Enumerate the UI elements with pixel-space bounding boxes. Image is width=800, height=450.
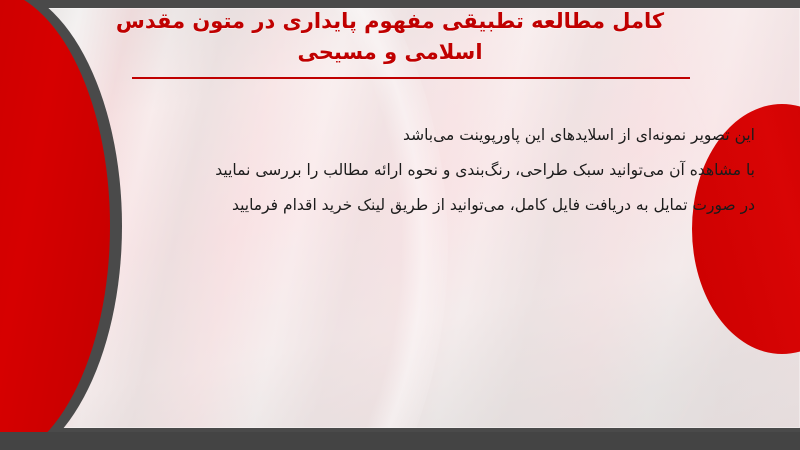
slide-title-line-2: اسلامی و مسیحی <box>40 37 740 68</box>
slide-bottom-band <box>0 432 800 450</box>
slide-title: کامل مطالعه تطبیقی مفهوم پایداری در متون… <box>40 6 740 68</box>
body-line-2: با مشاهده آن می‌توانید سبک طراحی، رنگ‌بن… <box>65 153 755 188</box>
title-divider-rule <box>132 77 690 79</box>
presentation-slide: کامل مطالعه تطبیقی مفهوم پایداری در متون… <box>0 0 800 450</box>
body-line-1: این تصویر نمونه‌ای از اسلایدهای این پاور… <box>65 118 755 153</box>
body-line-3: در صورت تمایل به دریافت فایل کامل، می‌تو… <box>65 188 755 223</box>
slide-body-text: این تصویر نمونه‌ای از اسلایدهای این پاور… <box>65 118 755 223</box>
slide-title-line-1: کامل مطالعه تطبیقی مفهوم پایداری در متون… <box>40 6 740 37</box>
